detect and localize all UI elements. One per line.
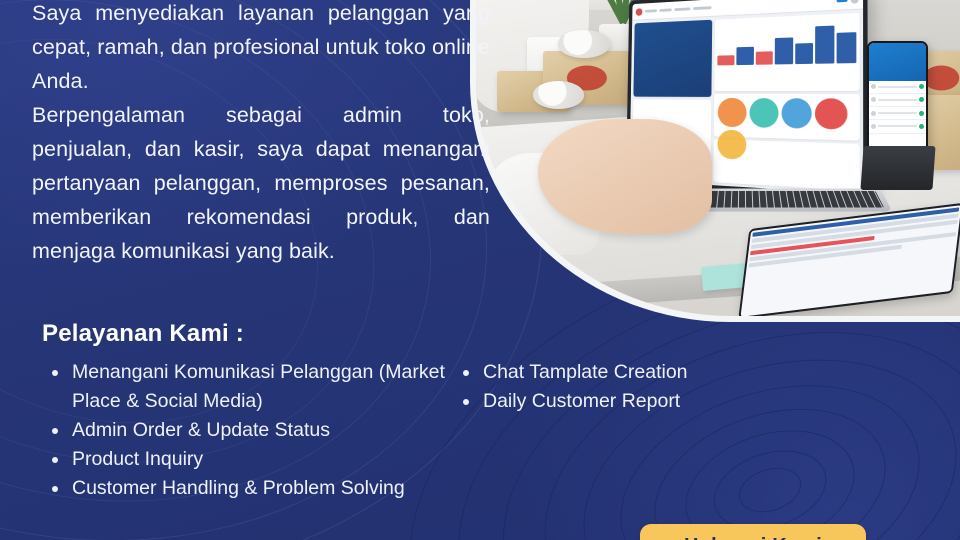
services-columns: Menangani Komunikasi Pelanggan (Market P… — [42, 358, 940, 503]
intro-paragraph-1: Saya menyediakan layanan pelanggan yang … — [32, 0, 490, 98]
list-item: Menangani Komunikasi Pelanggan (Market P… — [70, 358, 445, 416]
services-list-right: Chat Tamplate Creation Daily Customer Re… — [453, 358, 811, 503]
services-section: Pelayanan Kami : Menangani Komunikasi Pe… — [42, 320, 940, 503]
list-item: Admin Order & Update Status — [70, 416, 445, 445]
contact-us-button[interactable]: Hubungi Kami — [640, 524, 866, 540]
intro-text: Saya menyediakan layanan pelanggan yang … — [32, 0, 490, 268]
dashboard-bar-chart — [715, 13, 860, 68]
box-logo — [923, 65, 958, 90]
phone-stand — [860, 146, 935, 190]
list-item: Customer Handling & Problem Solving — [70, 474, 445, 503]
hero-photo-image — [476, 0, 960, 316]
list-item: Product Inquiry — [70, 445, 445, 474]
list-item: Daily Customer Report — [481, 387, 811, 416]
tape-roll — [533, 81, 584, 108]
phone-header — [869, 43, 927, 81]
hero-photo — [470, 0, 960, 322]
slide-canvas: Saya menyediakan layanan pelanggan yang … — [0, 0, 960, 540]
list-item: Chat Tamplate Creation — [481, 358, 811, 387]
intro-paragraph-2: Berpengalaman sebagai admin toko, penjua… — [32, 98, 490, 268]
smartphone — [867, 41, 929, 157]
smartphone-screen — [869, 43, 927, 155]
tape-roll — [558, 30, 609, 57]
services-title: Pelayanan Kami : — [42, 320, 940, 348]
services-list-left: Menangani Komunikasi Pelanggan (Market P… — [42, 358, 445, 503]
